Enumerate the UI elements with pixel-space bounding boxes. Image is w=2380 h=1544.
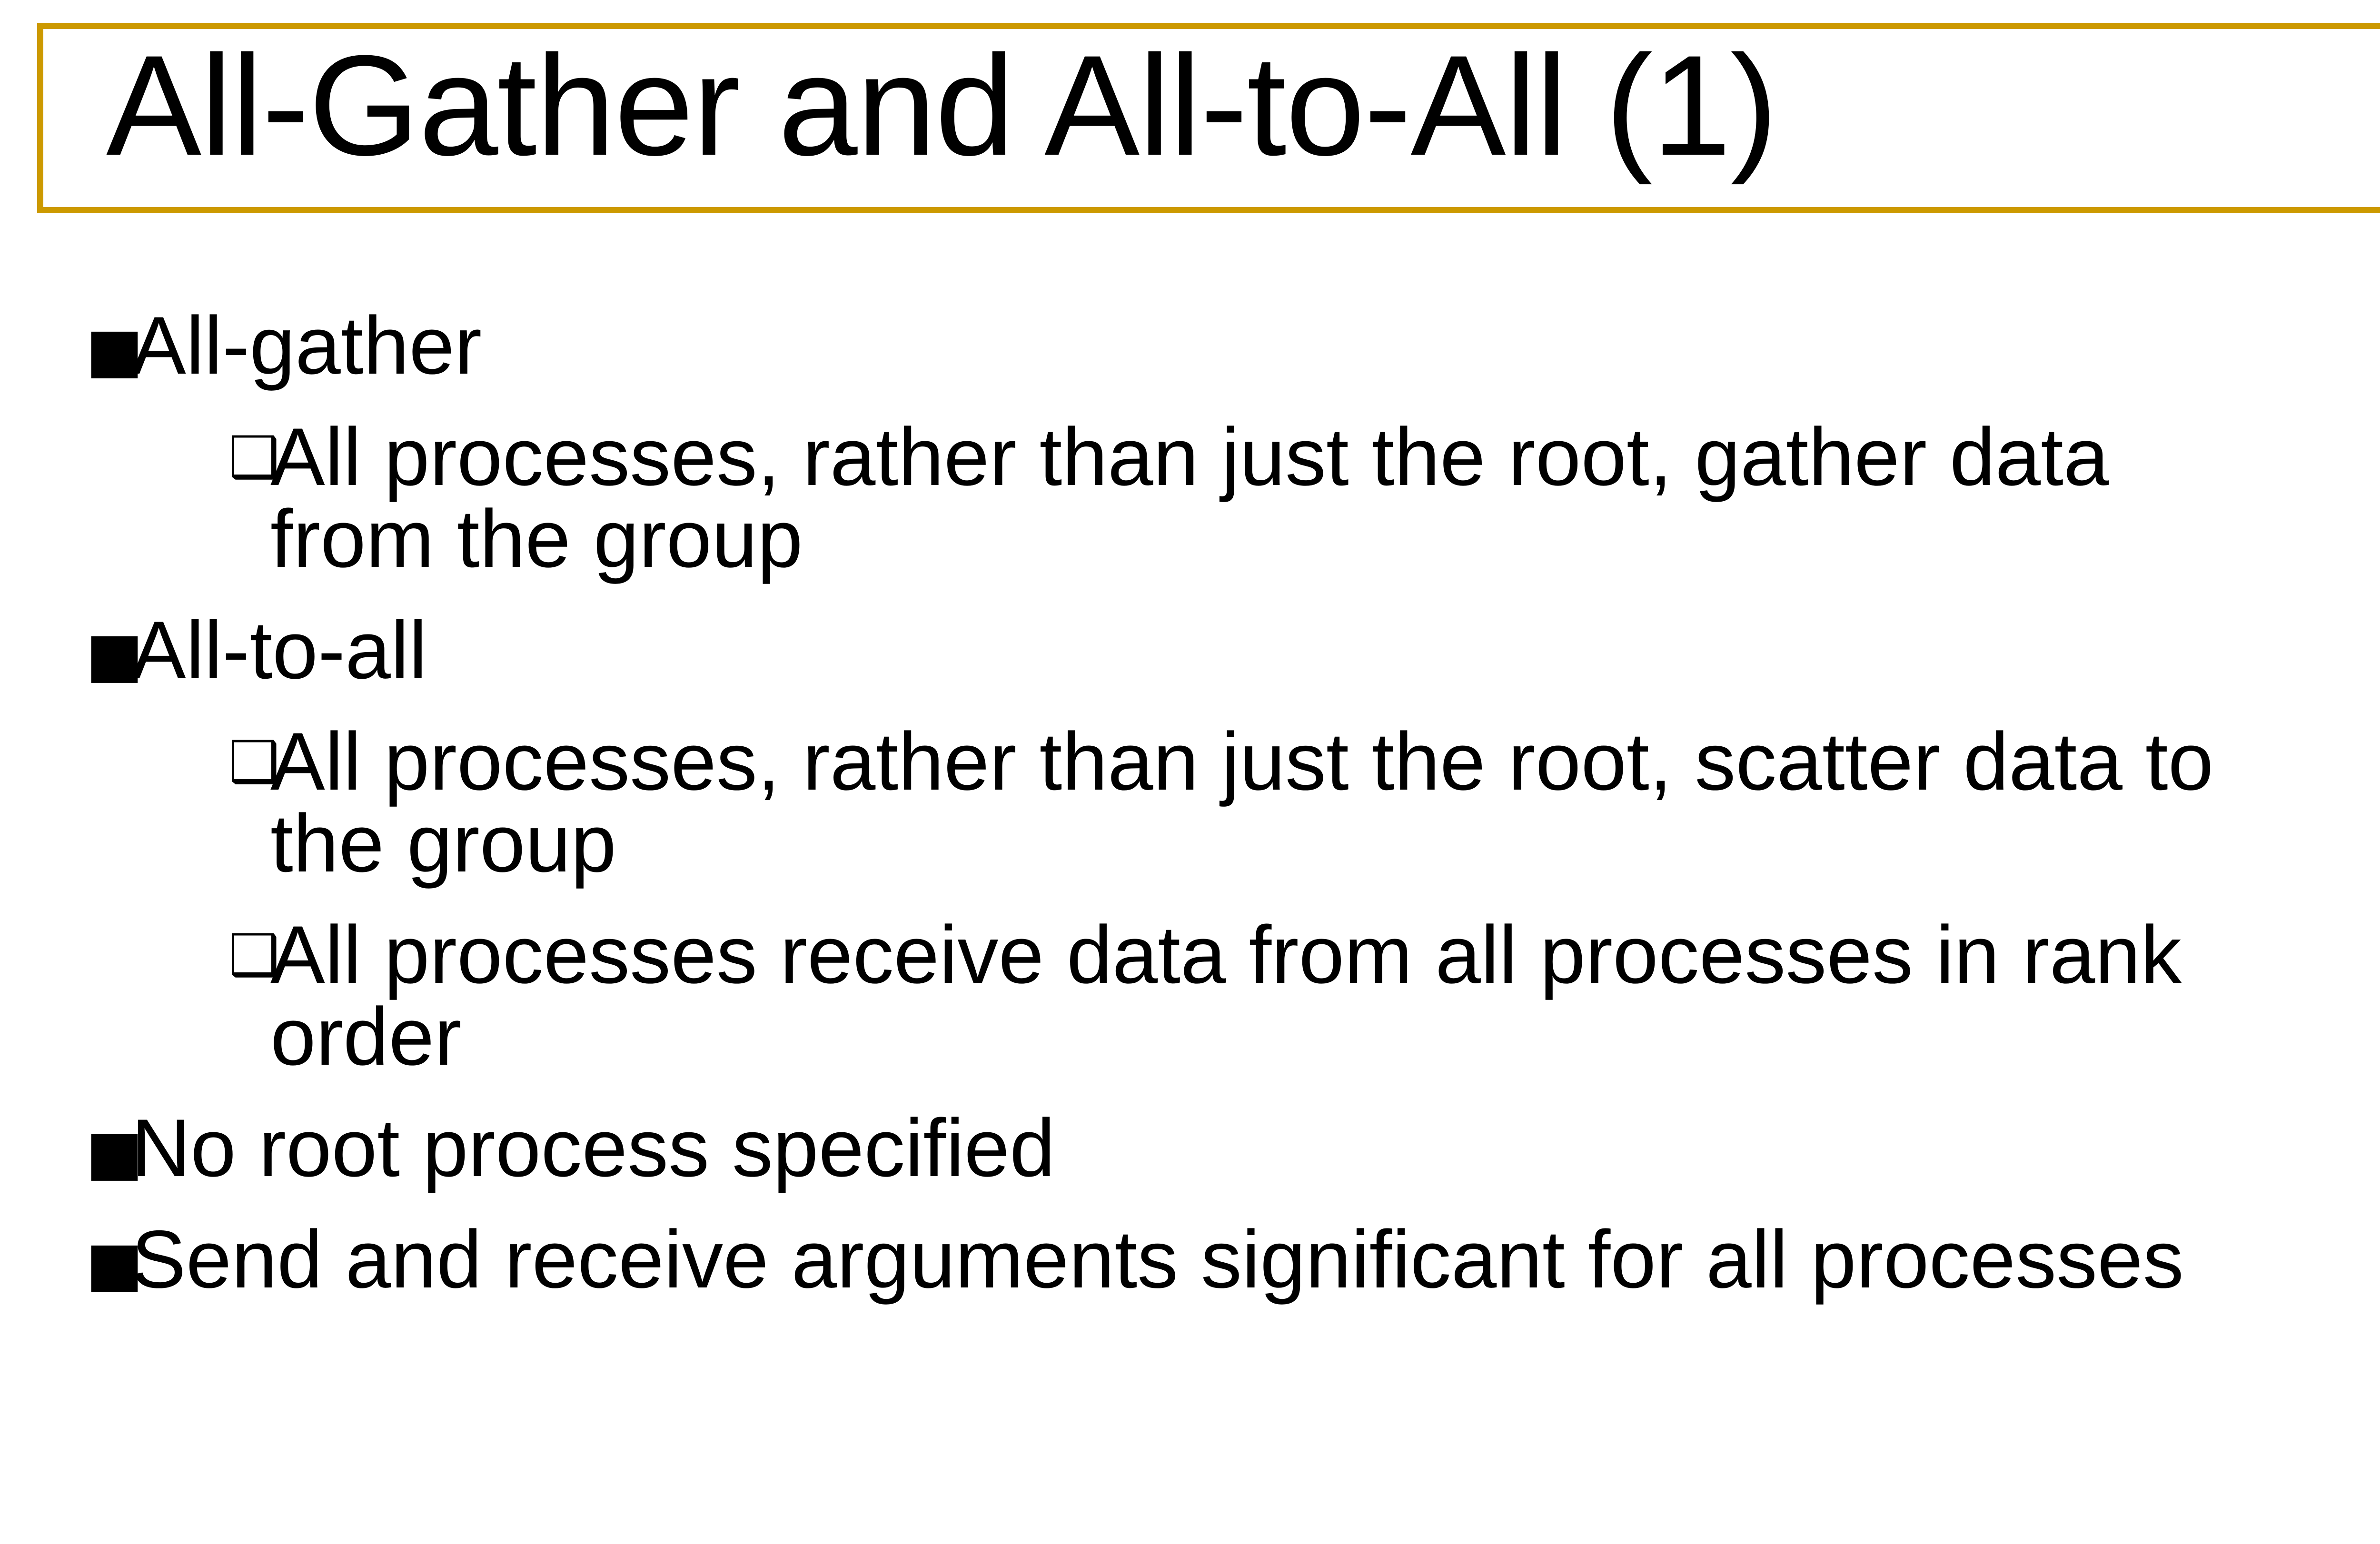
list-item-label: All-gather [131,305,482,386]
list-item-label: All-to-all [131,609,427,691]
list-item-label: All processes receive data from all proc… [270,914,2182,996]
hollow-square-bullet-icon: ❑ [228,429,270,486]
filled-square-bullet-icon: ■ [86,320,131,381]
hollow-square-bullet-icon: ❑ [228,927,270,984]
list-item-continuation: from the group [270,498,2380,580]
list-item-continuation: the group [270,802,2380,884]
filled-square-bullet-icon: ■ [86,624,131,685]
title-frame: All-Gather and All-to-All (1) [37,23,2380,213]
list-item: ■ All-gather [86,305,2380,386]
list-item-label: All processes, rather than just the root… [270,416,2109,498]
hollow-square-bullet-icon: ❑ [228,734,270,791]
list-item-label: No root process specified [131,1107,1055,1189]
list-item-continuation-label: from the group [270,498,803,580]
filled-square-bullet-icon: ■ [86,1234,131,1295]
list-item: ■ No root process specified [86,1107,2380,1189]
list-item: ❑ All processes receive data from all pr… [228,914,2380,996]
list-item-continuation-label: the group [270,802,616,884]
list-item: ❑ All processes, rather than just the ro… [228,721,2380,802]
list-item-continuation-label: order [270,996,462,1078]
list-item-label: Send and receive arguments significant f… [131,1218,2184,1300]
list-item: ■ All-to-all [86,609,2380,691]
slide: All-Gather and All-to-All (1) ■ All-gath… [0,0,2380,1544]
list-item-label: All processes, rather than just the root… [270,721,2213,802]
list-item-continuation: order [270,996,2380,1078]
list-item: ■ Send and receive arguments significant… [86,1218,2380,1300]
page-title: All-Gather and All-to-All (1) [106,34,1777,177]
bullet-list: ■ All-gather ❑ All processes, rather tha… [86,305,2380,1330]
list-item: ❑ All processes, rather than just the ro… [228,416,2380,498]
filled-square-bullet-icon: ■ [86,1122,131,1183]
